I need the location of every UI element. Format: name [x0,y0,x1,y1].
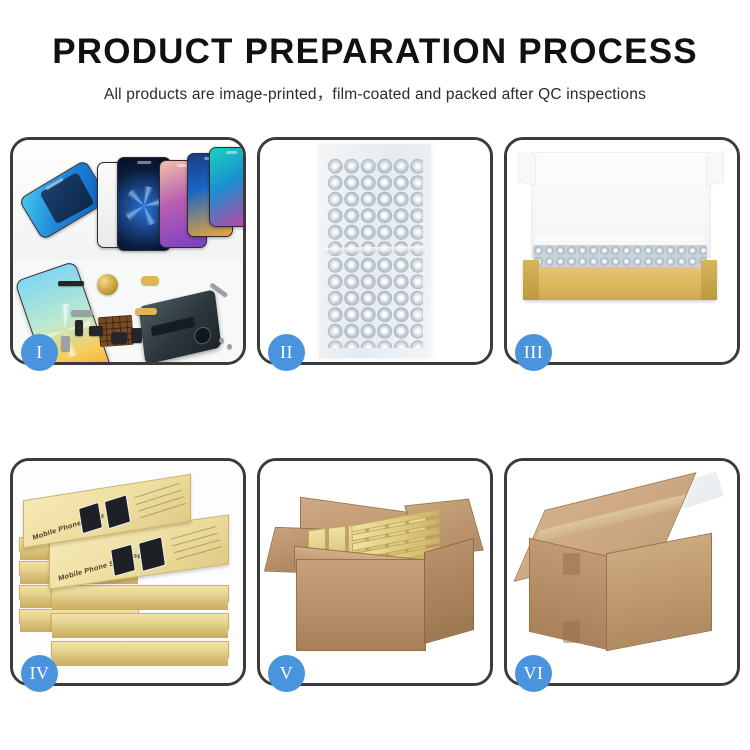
step-1-image [13,140,243,362]
step-2-image [260,140,490,362]
component-icon [75,320,83,336]
carton-front-icon [296,559,426,651]
process-step-3[interactable]: III [504,137,740,365]
page-title: PRODUCT PREPARATION PROCESS [0,34,750,71]
process-step-2[interactable]: II [257,137,493,365]
bracket-icon [71,310,93,316]
step-badge-6: VI [515,655,552,692]
step-badge-3: III [515,334,552,371]
carton-tab-icon [563,621,580,643]
retail-box [51,585,229,602]
sim-tray-icon [61,336,70,351]
step-badge-1: I [21,334,58,371]
phone-housing-icon [138,289,221,362]
carton-side-icon [424,538,474,644]
phone-screen-icon [209,147,243,227]
process-step-5[interactable]: V [257,458,493,686]
carton-right-icon [606,533,712,652]
page-subtitle: All products are image-printed，film-coat… [0,82,750,104]
box-stack-icon: Mobile Phone Spare Parts Mobile Phone Sp… [17,473,241,679]
flex-cable-icon [141,276,159,285]
step-6-image [507,461,737,683]
bubble-wrap-icon [319,144,431,358]
page-header: PRODUCT PREPARATION PROCESS All products… [0,0,750,104]
inner-box-tray-icon [523,260,717,300]
retail-box [51,641,229,658]
component-icon [89,326,103,336]
screw-icon [227,344,232,349]
step-5-image [260,461,490,683]
step-badge-4: IV [21,655,58,692]
screw-icon [219,338,224,343]
step-badge-2: II [268,334,305,371]
step-badge-5: V [268,655,305,692]
retail-box [51,613,229,630]
carton-tab-icon [563,553,580,575]
camera-module-icon [111,332,127,344]
speaker-part-icon [97,274,118,295]
step-4-image: Mobile Phone Spare Parts Mobile Phone Sp… [13,461,243,683]
flex-cable-icon [135,308,157,315]
component-icon [58,281,84,286]
step-3-image [507,140,737,362]
process-step-4[interactable]: Mobile Phone Spare Parts Mobile Phone Sp… [10,458,246,686]
process-step-grid: I II III [10,137,740,686]
process-step-1[interactable]: I [10,137,246,365]
battery-part-icon [131,328,142,343]
process-step-6[interactable]: VI [504,458,740,686]
